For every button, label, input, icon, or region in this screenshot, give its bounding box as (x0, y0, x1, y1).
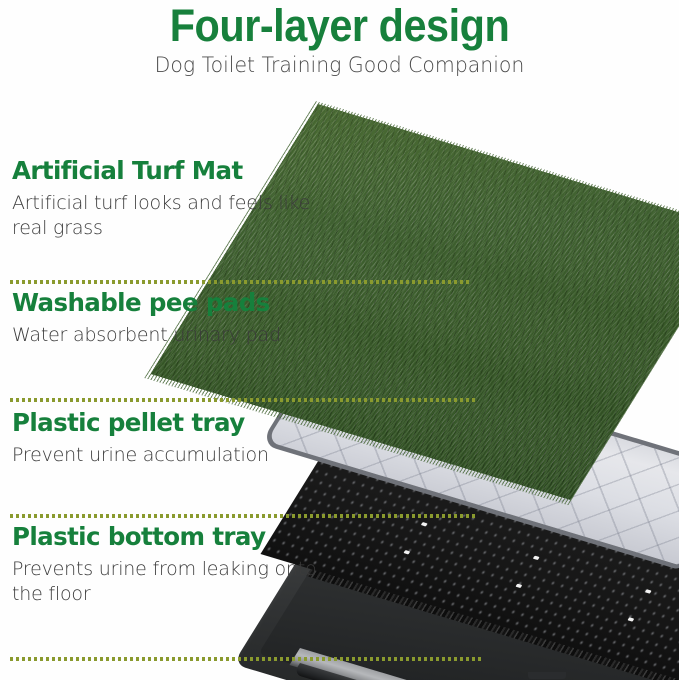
product-infographic: Four-layer design Dog Toilet Training Go… (0, 0, 679, 680)
page-subtitle: Dog Toilet Training Good Companion (17, 49, 662, 78)
feature-title-plastic-pellet-tray: Plastic pellet tray (12, 408, 337, 437)
feature-list: Artificial Turf Mat Artificial turf look… (0, 98, 345, 680)
feature-item-artificial-turf-mat: Artificial Turf Mat Artificial turf look… (12, 156, 337, 241)
turf-layer (318, 104, 679, 374)
feature-title-washable-pee-pads: Washable pee pads (12, 288, 337, 317)
feature-description-plastic-bottom-tray: Prevents urine from leaking onto the flo… (12, 551, 337, 607)
connector-line-bottom-tray (10, 657, 482, 661)
feature-description-washable-pee-pads: Water absorbent urinary pad (12, 317, 337, 348)
connector-line-pellet-tray (10, 514, 477, 518)
bottom-tray-foot (528, 672, 566, 679)
connector-line-turf (10, 280, 470, 284)
header: Four-layer design Dog Toilet Training Go… (0, 0, 679, 98)
feature-title-plastic-bottom-tray: Plastic bottom tray (12, 522, 337, 551)
feature-description-plastic-pellet-tray: Prevent urine accumulation (12, 437, 337, 468)
feature-item-washable-pee-pads: Washable pee pads Water absorbent urinar… (12, 288, 337, 348)
feature-title-artificial-turf-mat: Artificial Turf Mat (12, 156, 337, 185)
feature-item-plastic-bottom-tray: Plastic bottom tray Prevents urine from … (12, 522, 337, 607)
feature-item-plastic-pellet-tray: Plastic pellet tray Prevent urine accumu… (12, 408, 337, 468)
connector-line-pee-pad (10, 398, 475, 402)
feature-description-artificial-turf-mat: Artificial turf looks and feels like rea… (12, 185, 337, 241)
page-title: Four-layer design (27, 0, 652, 49)
